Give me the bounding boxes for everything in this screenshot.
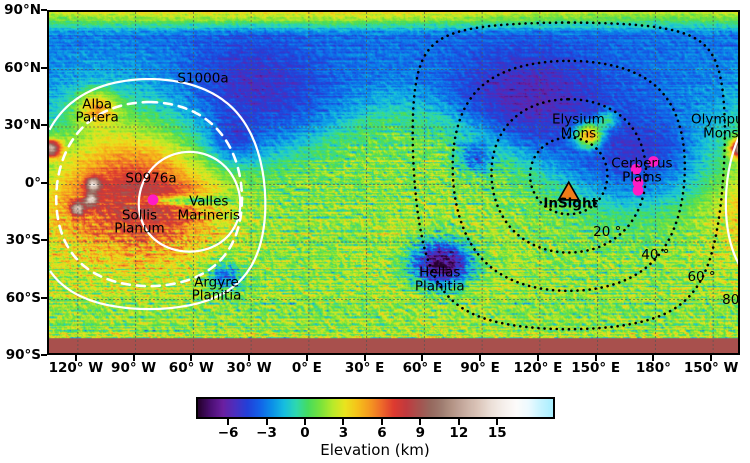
latitude-tick-label: 60°S: [0, 290, 41, 306]
feature-label-line: Planitia: [415, 280, 465, 294]
latitude-tick-mark: [41, 124, 47, 126]
longitude-tick-mark: [248, 355, 250, 361]
colorbar-tick-label: 12: [449, 425, 468, 441]
longitude-tick-label: 120° W: [49, 360, 104, 376]
longitude-tick-label: 0° E: [292, 360, 322, 376]
longitude-tick-label: 30° W: [227, 360, 272, 376]
colorbar-tick-label: 9: [416, 425, 425, 441]
feature-label-sollis-planum: SollisPlanum: [114, 209, 164, 236]
colorbar-tick-label: −3: [256, 425, 277, 441]
latitude-tick-label: 90°S: [0, 347, 41, 363]
feature-label-line: Marineris: [178, 209, 240, 223]
distance-contour-label: 60 °: [687, 269, 715, 285]
feature-label-olympus-mons: OlympusMons: [691, 114, 740, 141]
latitude-tick-mark: [41, 9, 47, 11]
latitude-tick-label: 0°: [0, 175, 41, 191]
colorbar-tick-label: −6: [218, 425, 239, 441]
latitude-tick-label: 90°N: [0, 2, 41, 18]
latitude-tick-label: 60°N: [0, 60, 41, 76]
colorbar-gradient: [198, 399, 553, 417]
longitude-tick-mark: [75, 355, 77, 361]
figure-root: AlbaPateraS1000aS0976aSollisPlanumValles…: [0, 0, 750, 463]
feature-label-argyre-planitia: ArgyrePlanitia: [192, 276, 242, 303]
feature-label-line: Planitia: [192, 290, 242, 304]
feature-label-line: S0976a: [125, 172, 176, 186]
feature-label-insight: InSight: [543, 197, 598, 211]
feature-label-cerberus-plains: CerberusPlains: [611, 158, 672, 185]
feature-label-s1000a: S1000a: [177, 72, 228, 86]
longitude-tick-mark: [652, 355, 654, 361]
distance-contour-label: 40 °: [641, 247, 669, 263]
distance-contour-label: 20 °: [593, 224, 621, 240]
longitude-tick-label: 150° E: [571, 360, 620, 376]
longitude-tick-label: 60° W: [169, 360, 214, 376]
latitude-tick-label: 30°N: [0, 117, 41, 133]
feature-label-valles-marineris: VallesMarineris: [178, 196, 240, 223]
longitude-tick-mark: [306, 355, 308, 361]
marker-dot[interactable]: [148, 194, 159, 205]
latitude-tick-mark: [41, 354, 47, 356]
feature-label-elysium-mons: ElysiumMons: [552, 114, 605, 141]
colorbar-tick-label: 15: [488, 425, 507, 441]
feature-label-line: Planum: [114, 223, 164, 237]
longitude-tick-label: 90° W: [111, 360, 156, 376]
colorbar-tick-label: 0: [300, 425, 309, 441]
feature-label-hellas-planitia: HellasPlanitia: [415, 267, 465, 294]
longitude-tick-mark: [479, 355, 481, 361]
feature-label-line: InSight: [543, 197, 598, 211]
feature-label-alba-patera: AlbaPatera: [76, 98, 119, 125]
longitude-tick-label: 150° W: [684, 360, 739, 376]
longitude-tick-label: 90° E: [460, 360, 499, 376]
latitude-tick-mark: [41, 239, 47, 241]
colorbar: [196, 397, 555, 419]
longitude-tick-mark: [190, 355, 192, 361]
feature-label-s0976a: S0976a: [125, 172, 176, 186]
feature-label-line: Mons: [552, 127, 605, 141]
longitude-tick-label: 120° E: [513, 360, 562, 376]
colorbar-title: Elevation (km): [320, 441, 429, 459]
latitude-tick-mark: [41, 182, 47, 184]
longitude-tick-label: 60° E: [403, 360, 442, 376]
longitude-tick-mark: [133, 355, 135, 361]
longitude-tick-mark: [537, 355, 539, 361]
longitude-tick-mark: [710, 355, 712, 361]
latitude-tick-mark: [41, 67, 47, 69]
marker-dot[interactable]: [633, 185, 644, 196]
longitude-tick-mark: [364, 355, 366, 361]
longitude-tick-label: 180°: [636, 360, 671, 376]
colorbar-tick-label: 3: [339, 425, 348, 441]
colorbar-tick-label: 6: [377, 425, 386, 441]
longitude-tick-mark: [595, 355, 597, 361]
latitude-tick-label: 30°S: [0, 232, 41, 248]
feature-label-line: Plains: [611, 171, 672, 185]
longitude-tick-label: 30° E: [345, 360, 384, 376]
feature-label-line: Mons: [691, 127, 740, 141]
distance-contour-label: 80 °: [722, 292, 740, 308]
feature-label-line: Patera: [76, 112, 119, 126]
latitude-tick-mark: [41, 297, 47, 299]
mars-map: AlbaPateraS1000aS0976aSollisPlanumValles…: [47, 10, 740, 355]
longitude-tick-mark: [421, 355, 423, 361]
feature-label-line: S1000a: [177, 72, 228, 86]
